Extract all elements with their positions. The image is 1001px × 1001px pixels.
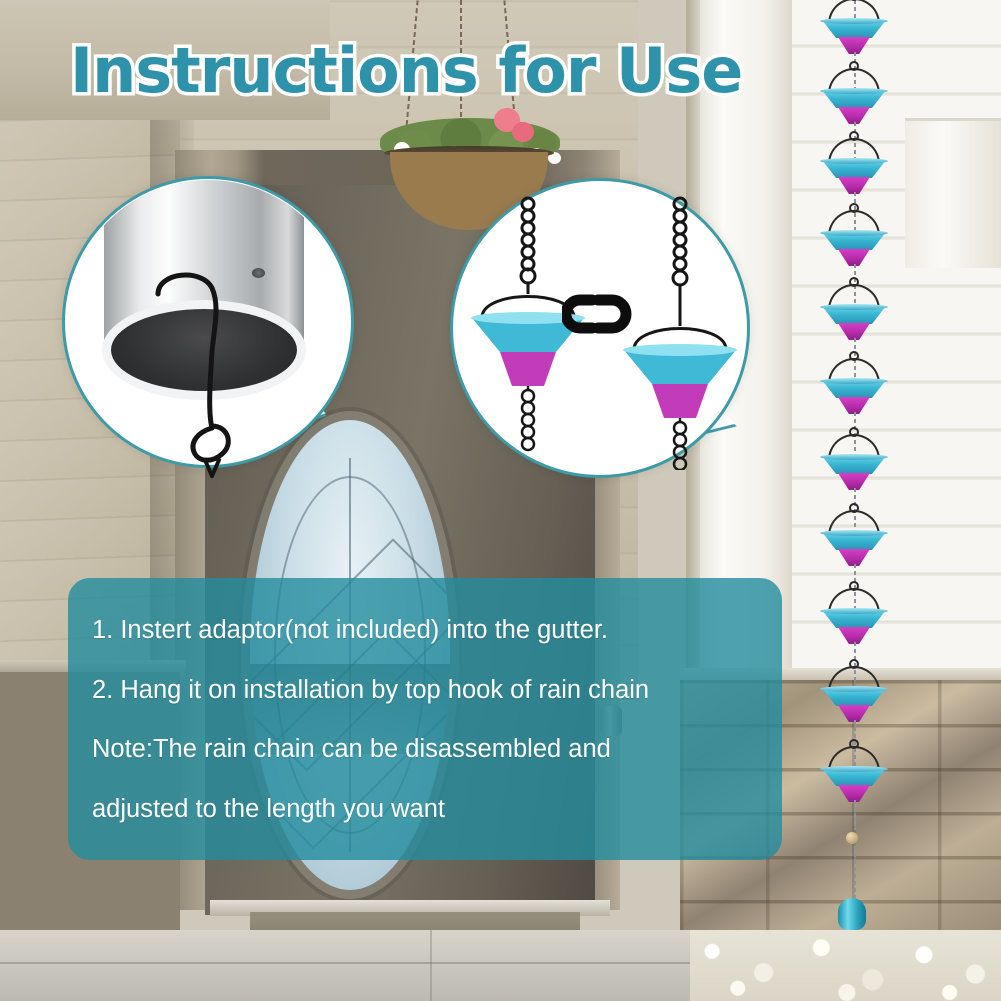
cup-bowl-rim <box>820 608 888 614</box>
cup-bowl-rim <box>820 686 888 692</box>
flower-pink-2 <box>512 122 534 142</box>
concrete-porch-floor <box>0 930 690 1001</box>
porch-seam-vertical <box>430 930 432 1001</box>
cup-bowl-rim <box>820 378 888 384</box>
rain-chain-cup <box>822 0 886 54</box>
instruction-note-line-1: Note:The rain chain can be disassembled … <box>92 737 756 763</box>
rain-chain-cup <box>822 746 886 802</box>
cup-bowl-rim <box>820 530 888 536</box>
bell-weight <box>838 898 866 930</box>
rain-chain-cup <box>822 510 886 566</box>
instructions-panel: 1. Instert adaptor(not included) into th… <box>68 578 782 860</box>
cup-bowl-rim <box>820 230 888 236</box>
screw-icon <box>252 268 265 278</box>
page-title: Instructions for Use <box>70 34 742 107</box>
cup-bowl-rim <box>820 158 888 164</box>
bubble-cup-right-illustration <box>618 190 748 470</box>
cup-bowl-rim <box>820 18 888 24</box>
downspout-rim <box>102 300 306 400</box>
rain-chain-cup <box>822 666 886 722</box>
rain-chain-cup <box>822 138 886 194</box>
rain-chain-cup <box>822 68 886 124</box>
instruction-step-2: 2. Hang it on installation by top hook o… <box>92 678 756 704</box>
product-instruction-image: Instructions for Use <box>0 0 1001 1001</box>
copper-bead <box>846 832 858 844</box>
rain-chain-cup <box>822 434 886 490</box>
cup-bowl-rim <box>820 304 888 310</box>
downspout-illustration <box>66 180 350 464</box>
instruction-note-line-2: adjusted to the length you want <box>92 797 756 823</box>
link-icon <box>562 292 632 336</box>
cup-bowl-rim <box>820 88 888 94</box>
chain-link-segment <box>854 846 856 898</box>
rain-chain-cup <box>822 210 886 266</box>
cup-bowl-rim <box>820 454 888 460</box>
rain-chain-cup <box>822 588 886 644</box>
rain-chain <box>800 0 910 1001</box>
instruction-step-1: 1. Instert adaptor(not included) into th… <box>92 618 756 644</box>
rain-chain-cup <box>822 358 886 414</box>
cup-bowl-rim <box>820 766 888 772</box>
chain-link-segment <box>854 800 856 830</box>
window-trim <box>905 118 1001 268</box>
porch-seam <box>0 962 690 964</box>
rain-chain-cup <box>822 284 886 340</box>
